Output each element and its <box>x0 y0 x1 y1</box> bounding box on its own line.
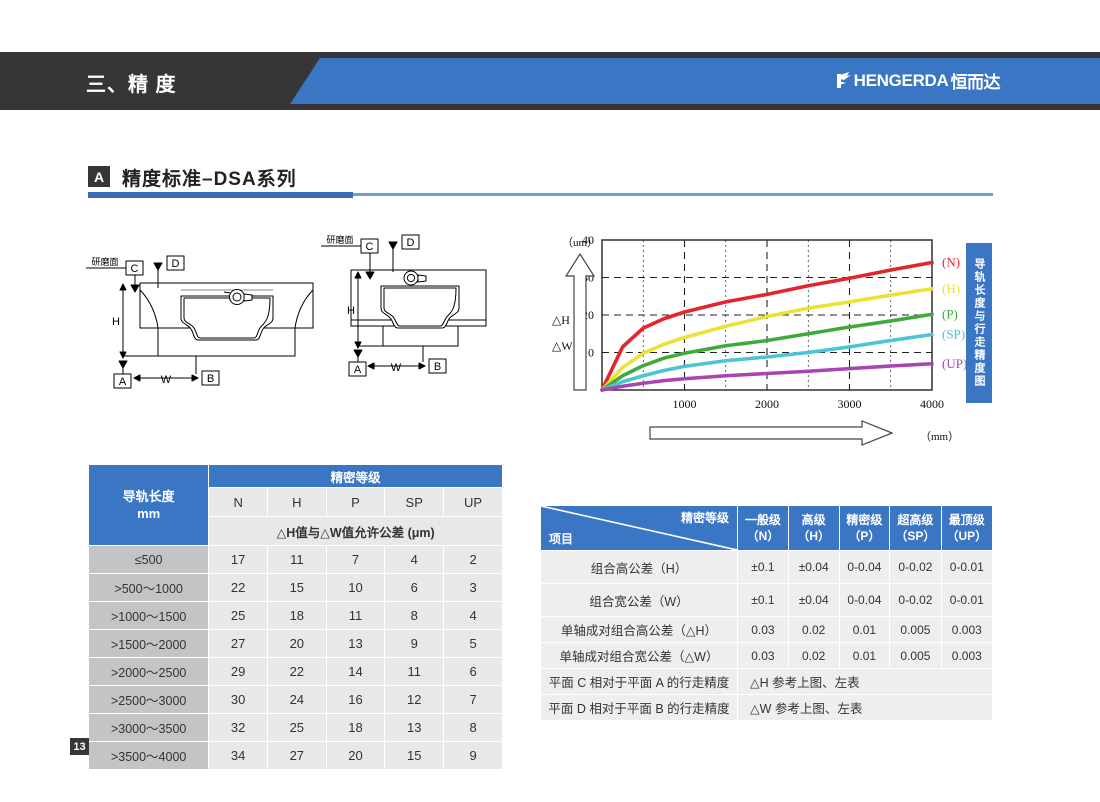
tolerance-value: 15 <box>267 574 326 602</box>
page-title: 三、精 度 <box>86 68 177 97</box>
length-range-label: ≤500 <box>89 546 209 574</box>
technical-drawings: C 研磨面 D H A <box>78 228 518 418</box>
datum-b-label-2: B <box>434 361 441 373</box>
table-row: >2000～2500292214116 <box>89 658 503 686</box>
dimension-w-label-1: W <box>161 374 172 386</box>
grade-header-n: 一般级 （N） <box>738 506 789 551</box>
datum-c-label-1: C <box>131 263 139 275</box>
ground-surface-label-2: 研磨面 <box>326 235 353 245</box>
left-table-grade-group-header: 精密等级 <box>209 465 503 488</box>
chart-x-unit: （mm） <box>920 430 959 443</box>
legend-label-up: (UP) <box>942 356 967 371</box>
table-row: >2500～3000302416127 <box>89 686 503 714</box>
corner-label-item: 项目 <box>549 530 573 547</box>
tolerance-value: 22 <box>209 574 268 602</box>
eagle-mark-icon <box>835 71 852 90</box>
tolerance-value: 4 <box>444 602 503 630</box>
table-row: >500～100022151063 <box>89 574 503 602</box>
table-row: 组合高公差（H）±0.1±0.040-0.040-0.020-0.01 <box>541 551 993 584</box>
datum-d-label-1: D <box>172 258 180 270</box>
chart-x-arrow-icon <box>650 421 892 445</box>
tolerance-value: 10 <box>326 574 385 602</box>
section-title: 精度标准–DSA系列 <box>122 164 297 191</box>
tolerance-value: 0.02 <box>788 617 839 643</box>
tolerance-value: 11 <box>267 546 326 574</box>
table-row: 平面 D 相对于平面 B 的行走精度△W 参考上图、左表 <box>541 695 993 721</box>
brand-logo-text: HENGERDA <box>854 71 949 91</box>
length-range-label: >3000～3500 <box>89 714 209 742</box>
section-badge: A <box>88 166 110 187</box>
left-table-grade-h: H <box>267 488 326 517</box>
datum-a-label-2: A <box>354 364 362 376</box>
tolerance-value: 27 <box>209 630 268 658</box>
tolerance-item-label: 单轴成对组合高公差（△H） <box>541 617 738 643</box>
tolerance-value: 0.003 <box>941 617 992 643</box>
tolerance-value: 0-0.01 <box>941 551 992 584</box>
tolerance-value: 7 <box>444 686 503 714</box>
tolerance-value: 32 <box>209 714 268 742</box>
table-row: ≤5001711742 <box>89 546 503 574</box>
tolerance-value: 15 <box>385 742 444 770</box>
tolerance-value: 4 <box>385 546 444 574</box>
left-table-grade-up: UP <box>444 488 503 517</box>
tolerance-value: 20 <box>326 742 385 770</box>
x-tick-label: 4000 <box>920 397 944 411</box>
tolerance-value: 14 <box>326 658 385 686</box>
legend-label-p: (P) <box>942 306 958 321</box>
grade-header-h: 高级 （H） <box>788 506 839 551</box>
tolerance-value: 0.03 <box>738 617 789 643</box>
tolerance-item-label: 组合宽公差（W） <box>541 584 738 617</box>
tolerance-value: 13 <box>385 714 444 742</box>
tolerance-table-by-length: 导轨长度 mm 精密等级 NHPSPUP △H值与△W值允许公差 (μm) ≤5… <box>88 464 503 770</box>
grade-header-p: 精密级 （P） <box>839 506 890 551</box>
chart-delta-w-label: △W <box>552 339 573 353</box>
tolerance-value: 16 <box>326 686 385 714</box>
left-table-grade-p: P <box>326 488 385 517</box>
length-range-label: >2000～2500 <box>89 658 209 686</box>
table-row-header: 精密等级 项目 一般级 （N） 高级 （H） 精密级 （P） 超高级 （SP） … <box>541 506 993 551</box>
tolerance-value: 9 <box>385 630 444 658</box>
tolerance-value: 6 <box>444 658 503 686</box>
tolerance-value: ±0.04 <box>788 584 839 617</box>
tolerance-value: ±0.1 <box>738 584 789 617</box>
table-row: 单轴成对组合高公差（△H）0.030.020.010.0050.003 <box>541 617 993 643</box>
chart-x-ticks: 1000200030004000 <box>673 397 945 411</box>
corner-label-grade: 精密等级 <box>681 509 729 526</box>
tolerance-value: 7 <box>326 546 385 574</box>
grade-header-sp: 超高级 （SP） <box>890 506 941 551</box>
tolerance-value: 2 <box>444 546 503 574</box>
chart-side-banner: 导轨长度与行走精度图 <box>966 243 992 403</box>
x-tick-label: 3000 <box>838 397 862 411</box>
length-range-label: >2500～3000 <box>89 686 209 714</box>
x-tick-label: 2000 <box>755 397 779 411</box>
tolerance-value: 29 <box>209 658 268 686</box>
length-range-label: >1000～1500 <box>89 602 209 630</box>
page-number: 13 <box>70 738 89 755</box>
tolerance-value: 0-0.04 <box>839 584 890 617</box>
section-rule-secondary <box>353 193 993 196</box>
tolerance-value: 0.01 <box>839 617 890 643</box>
section-rule-primary <box>88 192 353 198</box>
chart-y-arrow-icon <box>566 254 594 390</box>
brand-logo-cn: 恒而达 <box>951 68 1001 93</box>
tolerance-value: 12 <box>385 686 444 714</box>
tolerance-value: 30 <box>209 686 268 714</box>
chart-delta-h-label: △H <box>552 313 570 327</box>
left-table-grade-sp: SP <box>385 488 444 517</box>
table-row: 组合宽公差（W）±0.1±0.040-0.040-0.020-0.01 <box>541 584 993 617</box>
tolerance-value: 0.005 <box>890 617 941 643</box>
tolerance-value: 8 <box>444 714 503 742</box>
left-table-tolerance-note: △H值与△W值允许公差 (μm) <box>209 517 503 546</box>
reference-item-label: 平面 C 相对于平面 A 的行走精度 <box>541 669 738 695</box>
tolerance-value: 5 <box>444 630 503 658</box>
left-table-grade-n: N <box>209 488 268 517</box>
table-row: >1000～150025181184 <box>89 602 503 630</box>
reference-item-label: 平面 D 相对于平面 B 的行走精度 <box>541 695 738 721</box>
accuracy-chart: 10203040 1000200030004000 (N)(H)(P)(SP)(… <box>540 228 1010 453</box>
page-root: 三、精 度 HENGERDA 恒而达 A 精度标准–DSA系列 <box>0 0 1100 802</box>
x-tick-label: 1000 <box>673 397 697 411</box>
tolerance-value: 0-0.02 <box>890 551 941 584</box>
grade-header-up: 最顶级 （UP） <box>941 506 992 551</box>
tolerance-value: 11 <box>385 658 444 686</box>
dimension-w-label-2: W <box>391 362 402 374</box>
tolerance-value: ±0.04 <box>788 551 839 584</box>
table-row: >3000～3500322518138 <box>89 714 503 742</box>
dimension-h-label-1: H <box>112 316 120 328</box>
left-table-row-header: 导轨长度 mm <box>89 465 209 546</box>
tolerance-value: 8 <box>385 602 444 630</box>
dimension-h-label-2: H <box>347 305 355 317</box>
datum-a-label-1: A <box>119 376 127 388</box>
length-range-label: >500～1000 <box>89 574 209 602</box>
legend-label-h: (H) <box>942 281 960 296</box>
tolerance-value: 9 <box>444 742 503 770</box>
datum-c-label-2: C <box>366 241 374 253</box>
legend-label-sp: (SP) <box>942 327 965 342</box>
tolerance-value: 24 <box>267 686 326 714</box>
tolerance-value: ±0.1 <box>738 551 789 584</box>
tolerance-value: 0-0.01 <box>941 584 992 617</box>
legend-label-n: (N) <box>942 255 960 270</box>
tolerance-value: 18 <box>267 602 326 630</box>
tolerance-value: 0.003 <box>941 643 992 669</box>
reference-value: △W 参考上图、左表 <box>738 695 993 721</box>
combined-tolerance-table: 精密等级 项目 一般级 （N） 高级 （H） 精密级 （P） 超高级 （SP） … <box>540 505 993 721</box>
ground-surface-label-1: 研磨面 <box>91 257 118 267</box>
tolerance-value: 0.005 <box>890 643 941 669</box>
tolerance-value: 0.01 <box>839 643 890 669</box>
length-range-label: >3500～4000 <box>89 742 209 770</box>
tolerance-value: 0-0.02 <box>890 584 941 617</box>
right-table-corner-header: 精密等级 项目 <box>541 506 738 551</box>
table-row: 单轴成对组合宽公差（△W）0.030.020.010.0050.003 <box>541 643 993 669</box>
tolerance-value: 25 <box>267 714 326 742</box>
tolerance-value: 22 <box>267 658 326 686</box>
tolerance-item-label: 组合高公差（H） <box>541 551 738 584</box>
brand-logo: HENGERDA 恒而达 <box>835 68 1000 93</box>
tolerance-value: 0-0.04 <box>839 551 890 584</box>
tolerance-value: 18 <box>326 714 385 742</box>
table-row-header-group: 导轨长度 mm 精密等级 <box>89 465 503 488</box>
tolerance-value: 0.02 <box>788 643 839 669</box>
table-row: 平面 C 相对于平面 A 的行走精度△H 参考上图、左表 <box>541 669 993 695</box>
tolerance-item-label: 单轴成对组合宽公差（△W） <box>541 643 738 669</box>
tolerance-value: 0.03 <box>738 643 789 669</box>
chart-y-unit: （um） <box>562 236 598 249</box>
table-row: >3500～4000342720159 <box>89 742 503 770</box>
tolerance-value: 25 <box>209 602 268 630</box>
table-row: >1500～200027201395 <box>89 630 503 658</box>
datum-d-label-2: D <box>407 237 415 249</box>
tolerance-value: 20 <box>267 630 326 658</box>
reference-value: △H 参考上图、左表 <box>738 669 993 695</box>
tolerance-value: 6 <box>385 574 444 602</box>
tolerance-value: 17 <box>209 546 268 574</box>
chart-legend: (N)(H)(P)(SP)(UP) <box>942 255 967 371</box>
tolerance-value: 27 <box>267 742 326 770</box>
datum-b-label-1: B <box>207 373 214 385</box>
tolerance-value: 3 <box>444 574 503 602</box>
tolerance-value: 11 <box>326 602 385 630</box>
length-range-label: >1500～2000 <box>89 630 209 658</box>
tolerance-value: 13 <box>326 630 385 658</box>
tolerance-value: 34 <box>209 742 268 770</box>
